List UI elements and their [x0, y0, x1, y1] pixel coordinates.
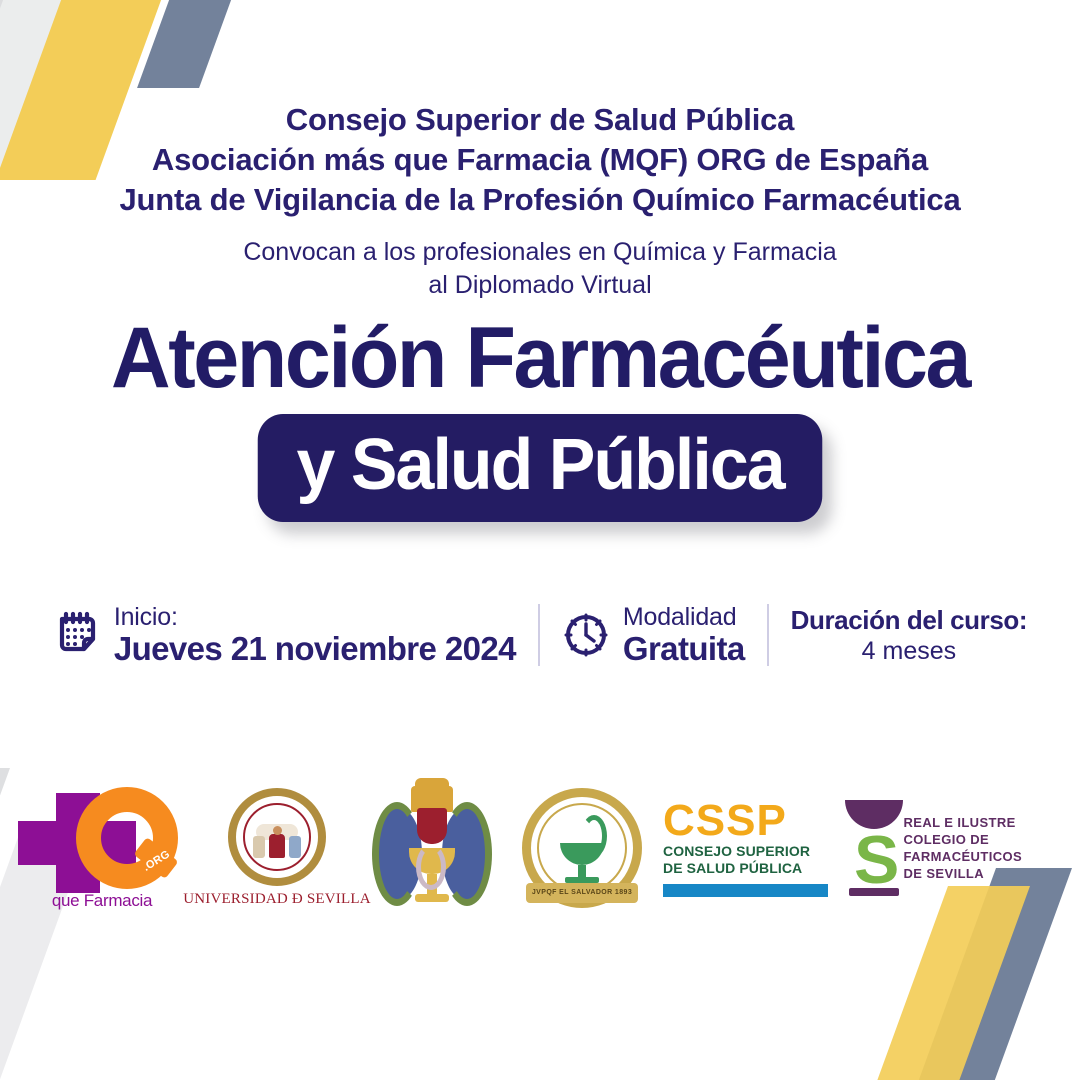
course-title: Atención Farmacéutica y Salud Pública: [0, 312, 1080, 522]
modality-label: Modalidad: [623, 605, 745, 630]
info-item-modality: Modalidad Gratuita: [540, 605, 767, 665]
duration-value: 4 meses: [862, 639, 956, 664]
organizers-block: Consejo Superior de Salud Pública Asocia…: [0, 100, 1080, 220]
sponsor-logos-row: .ORG que Farmacia UNIVERSIDAD Ð SEVILLA: [0, 778, 1080, 918]
poster-canvas: Consejo Superior de Salud Pública Asocia…: [0, 0, 1080, 1080]
title-badge-row: y Salud Pública: [0, 414, 1080, 522]
arms-serpent: [416, 844, 446, 890]
colegio-base-bar: [849, 888, 899, 896]
junta-bowl: [560, 843, 604, 865]
calendar-icon: [53, 610, 101, 660]
junta-ribbon: JVPQF EL SALVADOR 1893: [526, 883, 638, 903]
junta-ribbon-text: JVPQF EL SALVADOR 1893: [526, 883, 638, 903]
seal-center-head: [273, 826, 282, 835]
mas-que-farmacia-mark: .ORG: [18, 785, 186, 889]
info-item-duration: Duración del curso: 4 meses: [769, 607, 1050, 664]
colegio-line-2: COLEGIO DE FARMACÉUTICOS: [903, 831, 1073, 865]
invitation-block: Convocan a los profesionales en Química …: [0, 236, 1080, 302]
logo-cssp: CSSP CONSEJO SUPERIOR DE SALUD PÚBLICA: [657, 780, 843, 916]
modality-text: Modalidad Gratuita: [623, 605, 745, 665]
colegio-line-1: REAL E ILUSTRE: [903, 814, 1073, 831]
organizer-line-3: Junta de Vigilancia de la Profesión Quím…: [0, 180, 1080, 220]
seal-right-figure: [289, 836, 301, 858]
cssp-line-2: DE SALUD PÚBLICA: [663, 860, 802, 877]
logo-universidad-de-sevilla: UNIVERSIDAD Ð SEVILLA: [197, 780, 357, 916]
start-date-label: Inicio:: [114, 605, 516, 630]
title-main-text: Atención Farmacéutica: [22, 312, 1059, 404]
colegio-s-letter: S: [854, 826, 899, 894]
invitation-line-1: Convocan a los profesionales en Química …: [0, 236, 1080, 269]
modality-value: Gratuita: [623, 632, 745, 665]
colegio-line-3: DE SEVILLA: [903, 865, 1073, 882]
coat-of-arms-mark: [372, 786, 492, 910]
title-badge-text: y Salud Pública: [258, 414, 823, 522]
course-info-bar: Inicio: Jueves 21 noviembre 2024 Modalid…: [0, 604, 1080, 666]
cssp-blue-bar: [663, 884, 828, 897]
stripe-slate: [137, 0, 234, 88]
duration-label: Duración del curso:: [791, 607, 1028, 633]
duration-text: Duración del curso: 4 meses: [791, 607, 1028, 664]
arms-shield: [417, 808, 447, 844]
organizer-line-1: Consejo Superior de Salud Pública: [0, 100, 1080, 140]
clock-icon: [562, 611, 610, 659]
arms-cup-base: [415, 894, 449, 902]
seal-figures: [252, 812, 302, 864]
colegio-mark: S: [843, 800, 893, 896]
junta-seal: JVPQF EL SALVADOR 1893: [522, 788, 642, 908]
logo-junta-de-vigilancia: JVPQF EL SALVADOR 1893: [507, 780, 657, 916]
cssp-acronym: CSSP: [663, 799, 787, 843]
seal-center-figure: [269, 834, 285, 858]
organizer-line-2: Asociación más que Farmacia (MQF) ORG de…: [0, 140, 1080, 180]
seal-left-figure: [253, 836, 265, 858]
start-date-text: Inicio: Jueves 21 noviembre 2024: [114, 605, 516, 665]
logo-mas-que-farmacia: .ORG que Farmacia: [7, 780, 197, 916]
invitation-line-2: al Diplomado Virtual: [0, 269, 1080, 302]
info-item-start-date: Inicio: Jueves 21 noviembre 2024: [31, 605, 538, 665]
logo-colegio-farmaceuticos-sevilla: S REAL E ILUSTRE COLEGIO DE FARMACÉUTICO…: [843, 780, 1073, 916]
start-date-value: Jueves 21 noviembre 2024: [114, 632, 516, 665]
mas-que-farmacia-caption: que Farmacia: [52, 891, 152, 911]
universidad-caption: UNIVERSIDAD Ð SEVILLA: [183, 891, 371, 908]
colegio-text-block: REAL E ILUSTRE COLEGIO DE FARMACÉUTICOS …: [903, 814, 1073, 882]
logo-coat-of-arms: [357, 780, 507, 916]
universidad-seal: [228, 788, 326, 886]
cssp-line-1: CONSEJO SUPERIOR: [663, 843, 810, 860]
